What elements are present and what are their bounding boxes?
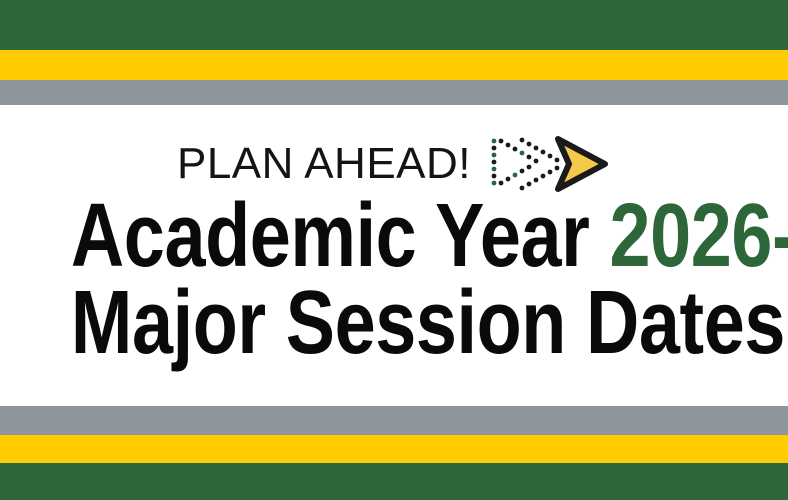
bottom-green-stripe xyxy=(0,463,788,500)
top-yellow-stripe xyxy=(0,50,788,80)
banner-content: PLAN AHEAD! xyxy=(0,105,788,406)
triple-chevron-arrow-icon xyxy=(487,135,611,193)
headline-line-1-black: Academic Year xyxy=(71,186,610,286)
top-gray-stripe xyxy=(0,80,788,105)
bottom-gray-stripe xyxy=(0,406,788,435)
academic-year-accent: 2026-27 xyxy=(609,186,788,286)
dotted-chevron-1 xyxy=(492,139,539,186)
top-green-stripe xyxy=(0,0,788,50)
headline-line-1: Academic Year 2026-27 xyxy=(71,197,717,276)
bottom-yellow-stripe xyxy=(0,435,788,463)
headline-block: Academic Year 2026-27 Major Session Date… xyxy=(0,197,788,363)
arrow-graphic-wrap xyxy=(487,135,611,193)
solid-gold-chevron xyxy=(558,139,605,189)
eyebrow-text: PLAN AHEAD! xyxy=(177,142,471,186)
promo-banner: PLAN AHEAD! xyxy=(0,0,788,500)
dotted-chevron-2 xyxy=(520,138,560,191)
headline-line-2: Major Session Dates xyxy=(71,284,717,363)
